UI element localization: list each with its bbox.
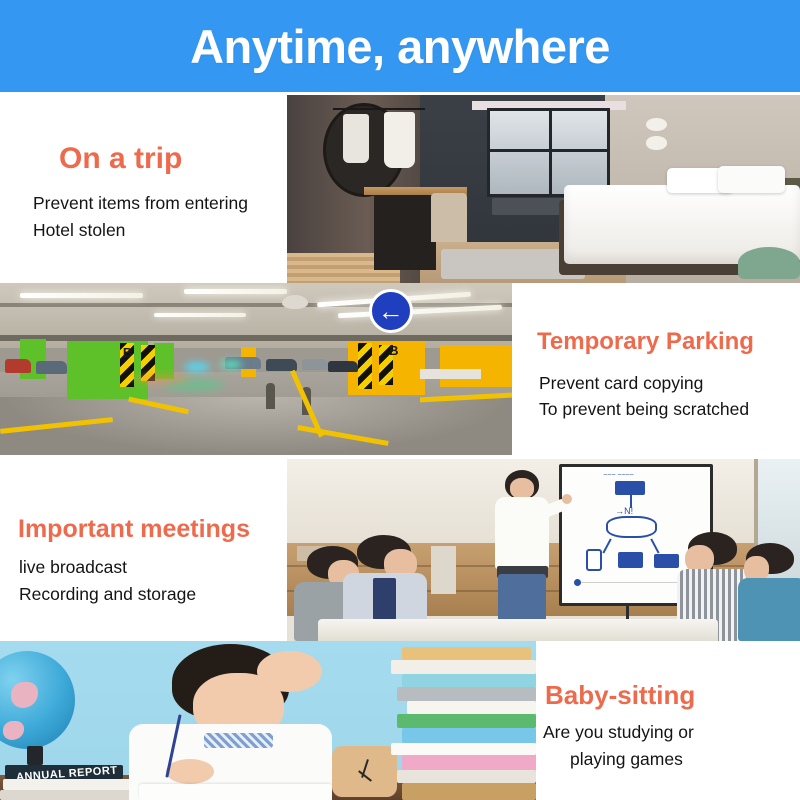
section-body-line: live broadcast bbox=[19, 554, 127, 581]
on-a-trip-text-block: On a trip Prevent items from entering Ho… bbox=[0, 92, 287, 283]
important-meetings-text-block: Important meetings live broadcast Record… bbox=[0, 457, 287, 641]
child-studying-photo: ANNUAL REPORT bbox=[0, 641, 536, 800]
parking-garage-photo: B B ← bbox=[0, 283, 512, 455]
attendee-person bbox=[738, 543, 800, 641]
section-body-line: To prevent being scratched bbox=[539, 396, 749, 423]
child-hand bbox=[257, 651, 321, 692]
presenter-person bbox=[482, 470, 564, 641]
section-heading-on-a-trip: On a trip bbox=[59, 142, 182, 175]
left-arrow-icon: ← bbox=[378, 298, 404, 324]
section-body-line: Are you studying or bbox=[543, 719, 694, 746]
section-heading-important-meetings: Important meetings bbox=[18, 516, 250, 544]
hotel-room-photo bbox=[287, 95, 800, 283]
header-banner: Anytime, anywhere bbox=[0, 0, 800, 92]
section-important-meetings: Important meetings live broadcast Record… bbox=[0, 457, 800, 641]
garage-pillar-letter: B bbox=[123, 345, 132, 360]
section-temporary-parking: B B ← bbox=[0, 283, 800, 457]
page-title: Anytime, anywhere bbox=[190, 23, 610, 70]
section-body-line: Hotel stolen bbox=[33, 217, 125, 244]
infographic-page: Anytime, anywhere On a trip Prevent item… bbox=[0, 0, 800, 800]
section-body-line: Prevent items from entering bbox=[33, 190, 248, 217]
section-body-line: Prevent card copying bbox=[539, 370, 703, 397]
section-baby-sitting: ANNUAL REPORT bbox=[0, 641, 800, 800]
section-body-line: playing games bbox=[570, 746, 683, 773]
notebook bbox=[139, 784, 332, 800]
baby-sitting-text-block: Baby-sitting Are you studying or playing… bbox=[536, 641, 800, 800]
section-body-line: Recording and storage bbox=[19, 581, 196, 608]
parking-direction-sign-icon: ← bbox=[369, 289, 413, 333]
temporary-parking-text-block: Temporary Parking Prevent card copying T… bbox=[512, 283, 800, 455]
garage-pillar-letter: B bbox=[389, 343, 398, 358]
section-on-a-trip: On a trip Prevent items from entering Ho… bbox=[0, 92, 800, 283]
section-heading-temporary-parking: Temporary Parking bbox=[537, 329, 754, 355]
section-heading-baby-sitting: Baby-sitting bbox=[545, 681, 695, 710]
meeting-room-photo: ~~~ ~~~~ →N! bbox=[287, 459, 800, 641]
